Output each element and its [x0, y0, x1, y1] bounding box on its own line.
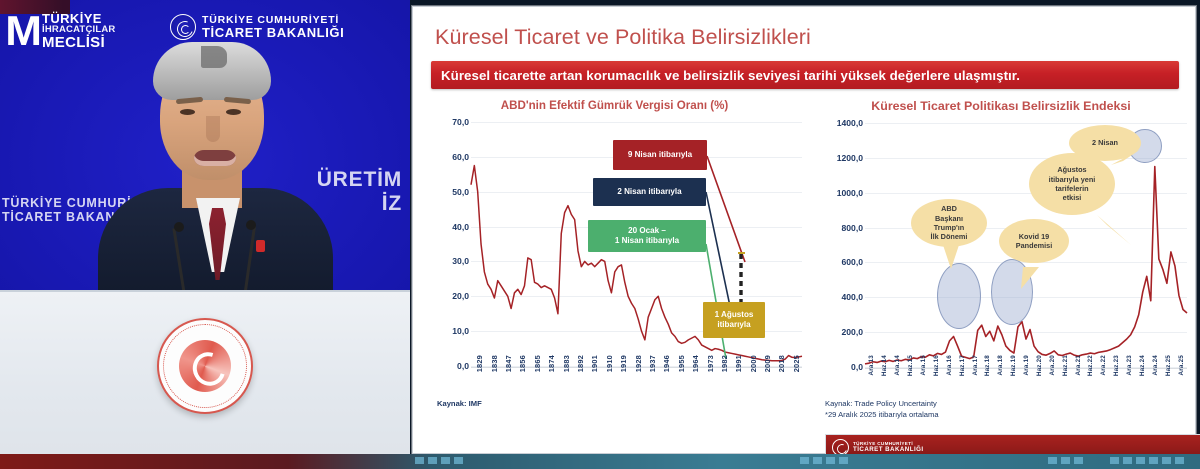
chart-right-plot-area: 0,0200,0400,0600,0800,01000,01200,01400,… — [811, 117, 1191, 369]
x-tick-label: 1973 — [706, 355, 715, 372]
x-tick-label: Ara.20 — [1049, 355, 1056, 375]
x-tick-label: 1910 — [605, 355, 614, 372]
chart-left-x-tick-labels: 1829183818471856186518741883189219011910… — [471, 353, 802, 399]
chart-left-source-text: Kaynak: IMF — [437, 399, 482, 408]
x-tick-label: 1928 — [634, 355, 643, 372]
x-tick-label: Haz.21 — [1062, 355, 1069, 376]
speaker-eye-left — [180, 109, 195, 115]
x-tick-label: 1955 — [677, 355, 686, 372]
x-tick-label: 1874 — [547, 355, 556, 372]
chart-right-note: *29 Aralık 2025 itibarıyla ortalama — [825, 410, 939, 419]
chart-annotation-label: 2 Nisan itibarıyla — [593, 178, 706, 206]
chart-right-source-text: Kaynak: Trade Policy Uncertainty — [825, 399, 937, 408]
x-tick-label: Haz.24 — [1139, 355, 1146, 376]
x-tick-label: 1991 — [734, 355, 743, 372]
x-tick-label: 1901 — [590, 355, 599, 372]
x-tick-label: Ara.24 — [1152, 355, 1159, 375]
x-tick-label: Haz.18 — [984, 355, 991, 376]
x-tick-label: Ara.13 — [868, 355, 875, 375]
x-tick-label: Ara.16 — [946, 355, 953, 375]
chart-callout-bubble: 2 Nisan — [1069, 125, 1141, 161]
x-tick-label: Haz.20 — [1036, 355, 1043, 376]
x-tick-label: Ara.14 — [894, 355, 901, 375]
x-tick-label: Haz.14 — [881, 355, 888, 376]
x-tick-label: Haz.16 — [933, 355, 940, 376]
x-tick-label: 1883 — [562, 355, 571, 372]
ministry-logo-line2: TİCARET BAKANLIĞI — [202, 26, 344, 40]
tim-logo-line2: İHRACATÇILAR — [42, 25, 115, 35]
ministry-seal-icon — [170, 14, 196, 40]
slide-banner-text: Küresel ticarette artan korumacılık ve b… — [431, 68, 1020, 83]
slide-title: Küresel Ticaret ve Politika Belirsizlikl… — [435, 25, 811, 50]
speaker-figure — [120, 40, 310, 290]
x-tick-label: Haz.22 — [1087, 355, 1094, 376]
x-tick-label: Ara.25 — [1178, 355, 1185, 375]
slide-banner: Küresel ticarette artan korumacılık ve b… — [431, 61, 1179, 89]
broadcast-ticker-strip — [0, 454, 1200, 469]
microphone-head-right — [246, 220, 256, 230]
x-tick-label: 1982 — [720, 355, 729, 372]
x-tick-label: 1847 — [504, 355, 513, 372]
x-tick-label: 1829 — [475, 355, 484, 372]
chart-right-title: Küresel Ticaret Politikası Belirsizlik E… — [811, 99, 1191, 113]
turkish-flag-pin-icon — [256, 240, 265, 252]
x-tick-label: 2018 — [777, 355, 786, 372]
chart-callout-bubble: Kovid 19Pandemisi — [999, 219, 1069, 263]
x-tick-label: 2025 — [792, 355, 801, 372]
x-tick-label: Haz.25 — [1165, 355, 1172, 376]
chart-global-trade-policy-uncertainty: Küresel Ticaret Politikası Belirsizlik E… — [811, 99, 1191, 417]
x-tick-label: Ara.17 — [972, 355, 979, 375]
x-tick-label: 1838 — [490, 355, 499, 372]
chart-annotation-label: 9 Nisan itibarıyla — [613, 140, 707, 170]
x-tick-label: Haz.15 — [907, 355, 914, 376]
chart-left-plot-area: 0,010,020,030,040,050,060,070,09 Nisan i… — [423, 116, 806, 368]
x-tick-label: 1856 — [518, 355, 527, 372]
backdrop-text-right: ÜRETİMİZ — [317, 168, 402, 216]
footer-org-line2: TİCARET BAKANLIĞI — [853, 447, 924, 454]
x-tick-label: Haz.19 — [1010, 355, 1017, 376]
chart-annotation-label: 1 Ağustositibarıyla — [703, 302, 765, 338]
tim-logo: M TÜRKİYE İHRACATÇILAR MECLİSİ — [6, 12, 115, 50]
ministry-logo: TÜRKİYE CUMHURİYETİ TİCARET BAKANLIĞI — [170, 14, 344, 40]
presentation-slide: Küresel Ticaret ve Politika Belirsizlikl… — [412, 6, 1196, 454]
broadcast-screen: M TÜRKİYE İHRACATÇILAR MECLİSİ TÜRKİYE C… — [0, 0, 1200, 469]
x-tick-label: Haz.23 — [1113, 355, 1120, 376]
speaker-nose — [206, 116, 220, 142]
chart-right-source: Kaynak: Trade Policy Uncertainty — [825, 399, 937, 408]
chart-right-x-tick-labels: Ara.13Haz.14Ara.14Haz.15Ara.15Haz.16Ara.… — [865, 353, 1187, 399]
x-tick-label: Ara.18 — [997, 355, 1004, 375]
x-tick-label: 1919 — [619, 355, 628, 372]
speaker-mouth — [194, 150, 236, 166]
chart-left-title: ABD'nin Efektif Gümrük Vergisi Oranı (%) — [423, 99, 806, 112]
x-tick-label: Haz.17 — [959, 355, 966, 376]
tim-logo-line3: MECLİSİ — [42, 35, 115, 50]
x-tick-label: Ara.22 — [1100, 355, 1107, 375]
x-tick-label: Ara.23 — [1126, 355, 1133, 375]
ministry-emblem-icon — [157, 318, 253, 414]
podium — [0, 290, 410, 454]
speaker-hair — [153, 42, 271, 100]
x-tick-label: 2009 — [763, 355, 772, 372]
speaker-eye-right — [226, 109, 241, 115]
x-tick-label: Ara.19 — [1023, 355, 1030, 375]
chart-callout-bubble: Ağustositibarıyla yenitarifelerinetkisi — [1029, 153, 1115, 215]
chart-callout-bubble: ABDBaşkanıTrump'ınİlk Dönemi — [911, 199, 987, 247]
microphone-head-left — [174, 222, 184, 232]
chart-left-source: Kaynak: IMF — [437, 399, 482, 408]
x-tick-label: 1946 — [662, 355, 671, 372]
chart-us-effective-tariff-rate: ABD'nin Efektif Gümrük Vergisi Oranı (%)… — [423, 99, 806, 417]
x-tick-label: Ara.15 — [920, 355, 927, 375]
tim-logo-mark: M — [5, 14, 39, 48]
x-tick-label: 1964 — [691, 355, 700, 372]
x-tick-label: 1937 — [648, 355, 657, 372]
x-tick-label: 1892 — [576, 355, 585, 372]
x-tick-label: 1865 — [533, 355, 542, 372]
x-tick-label: 2000 — [749, 355, 758, 372]
video-feed-panel: M TÜRKİYE İHRACATÇILAR MECLİSİ TÜRKİYE C… — [0, 0, 410, 454]
chart-annotation-label: 20 Ocak –1 Nisan itibarıyla — [588, 220, 706, 252]
x-tick-label: Ara.21 — [1075, 355, 1082, 375]
